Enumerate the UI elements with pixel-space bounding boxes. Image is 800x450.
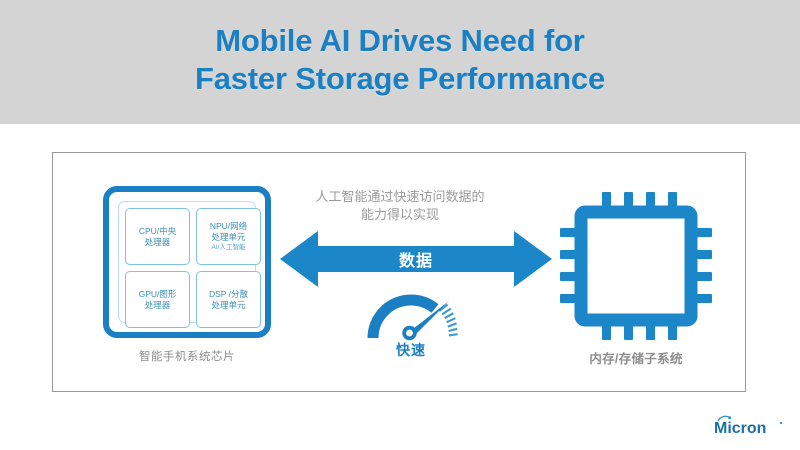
gauge-label: 快速: [361, 340, 461, 360]
micron-logo: Micron: [712, 414, 784, 438]
double-headed-arrow-icon: [280, 230, 552, 288]
soc-caption: 智能手机系统芯片: [87, 348, 287, 364]
soc-block-gpu-label: GPU/图形 处理器: [139, 289, 177, 310]
memory-chip: 内存/存储子系统: [558, 190, 714, 378]
footer-band: [0, 400, 800, 450]
soc-outer-frame: CPU/中央 处理器 NPU/网络 处理单元 AI/人工智能 GPU/图形 处理…: [103, 186, 271, 338]
soc-block-npu: NPU/网络 处理单元 AI/人工智能: [196, 208, 261, 265]
data-flow-arrow: 数据: [280, 230, 552, 288]
center-caption: 人工智能通过快速访问数据的 能力得以实现: [278, 188, 522, 225]
soc-block-dsp: DSP /分散 处理单元: [196, 271, 261, 328]
micron-logo-icon: Micron: [712, 414, 784, 438]
memory-chip-icon: [558, 190, 714, 342]
soc-block-npu-sublabel: AI/人工智能: [212, 244, 246, 252]
speed-gauge: 快速: [361, 292, 461, 364]
page-title: Mobile AI Drives Need for Faster Storage…: [0, 22, 800, 98]
memory-caption: 内存/存储子系统: [544, 348, 728, 367]
soc-block-cpu-label: CPU/中央 处理器: [139, 226, 176, 247]
slide-canvas: Mobile AI Drives Need for Faster Storage…: [0, 0, 800, 450]
soc-diagram: CPU/中央 处理器 NPU/网络 处理单元 AI/人工智能 GPU/图形 处理…: [103, 186, 271, 378]
soc-block-grid: CPU/中央 处理器 NPU/网络 处理单元 AI/人工智能 GPU/图形 处理…: [125, 208, 261, 328]
soc-block-cpu: CPU/中央 处理器: [125, 208, 190, 265]
micron-logo-text: Micron: [714, 420, 766, 437]
speedometer-icon: [361, 292, 461, 342]
soc-block-dsp-label: DSP /分散 处理单元: [209, 289, 248, 310]
soc-block-gpu: GPU/图形 处理器: [125, 271, 190, 328]
soc-block-npu-label: NPU/网络 处理单元: [210, 221, 247, 242]
